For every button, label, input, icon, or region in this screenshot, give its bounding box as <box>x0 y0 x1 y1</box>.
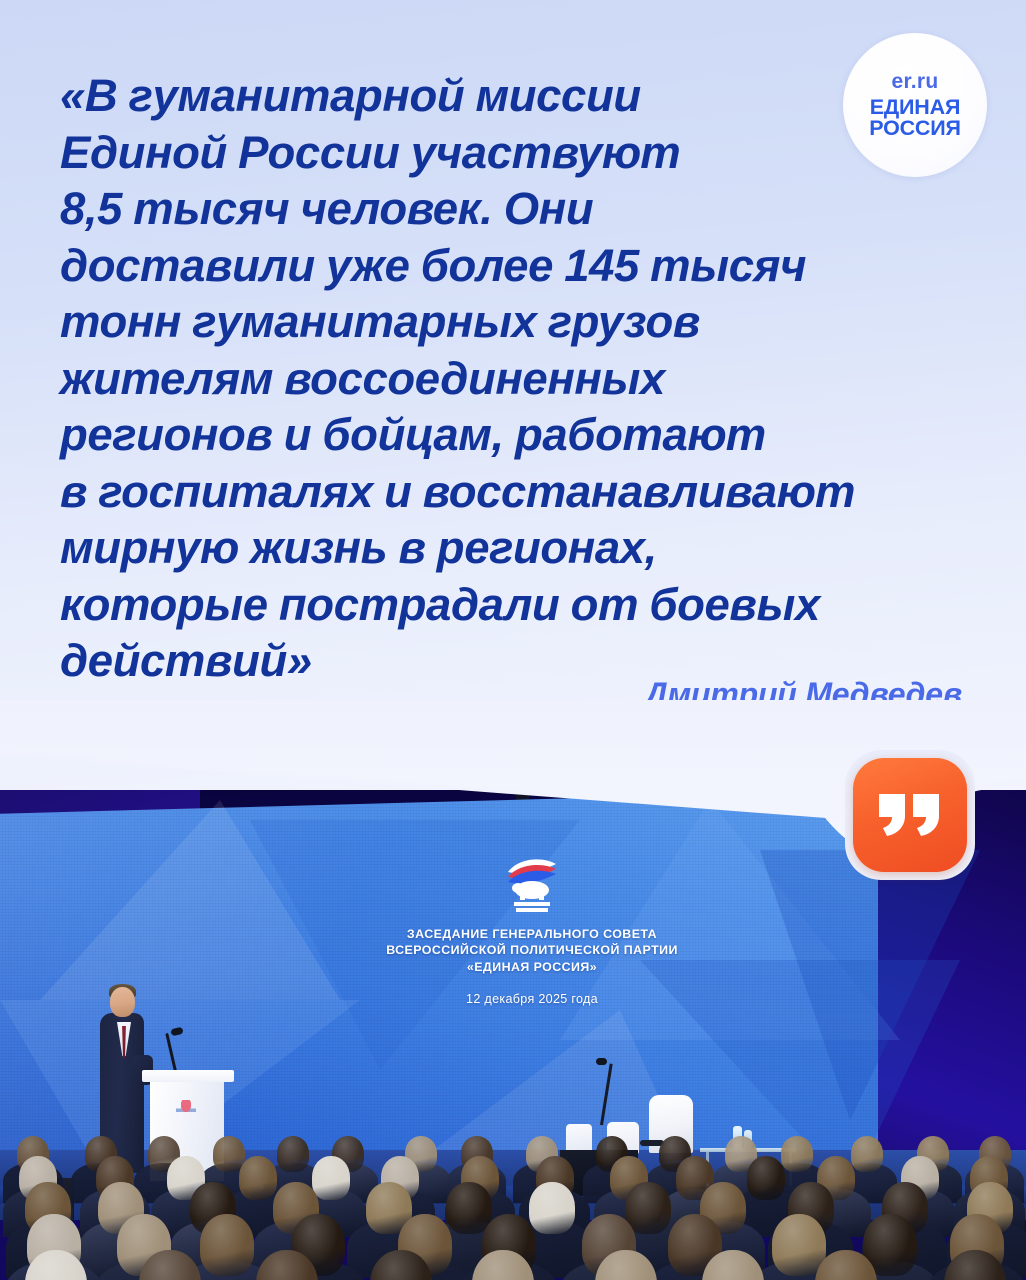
er-ru-party-name: ЕДИНАЯ РОССИЯ <box>869 97 961 139</box>
audience <box>0 1140 1026 1280</box>
audience-member-head <box>200 1214 254 1276</box>
audience-member-head <box>312 1156 350 1200</box>
audience-member-head <box>239 1156 277 1200</box>
audience-member-head <box>851 1136 883 1172</box>
united-russia-bear-emblem <box>498 852 566 914</box>
speaker-head <box>110 987 135 1017</box>
er-ru-logo-badge[interactable]: er.ru ЕДИНАЯ РОССИЯ <box>843 33 987 177</box>
audience-member-head <box>781 1136 813 1172</box>
audience-member-head <box>772 1214 826 1276</box>
quote-mark-badge <box>853 758 967 872</box>
quotation-marks-icon <box>875 790 945 840</box>
er-ru-url: er.ru <box>891 71 938 92</box>
quote-card: ЗАСЕДАНИЕ ГЕНЕРАЛЬНОГО СОВЕТА ВСЕРОССИЙС… <box>0 0 1026 1280</box>
screen-title: ЗАСЕДАНИЕ ГЕНЕРАЛЬНОГО СОВЕТА ВСЕРОССИЙС… <box>352 926 712 975</box>
podium-party-logo <box>176 1100 196 1119</box>
screen-date: 12 декабря 2025 года <box>352 992 712 1006</box>
floor-microphone <box>596 1058 607 1065</box>
quote-author: Дмитрий Медведев <box>645 676 962 713</box>
audience-member-head <box>529 1182 575 1234</box>
audience-member-head <box>277 1136 309 1172</box>
podium-top <box>142 1070 234 1082</box>
audience-member-head <box>446 1182 492 1234</box>
quote-text: «В гуманитарной миссии Единой России уча… <box>60 68 900 690</box>
screen-content: ЗАСЕДАНИЕ ГЕНЕРАЛЬНОГО СОВЕТА ВСЕРОССИЙС… <box>352 852 712 1006</box>
audience-member-head <box>747 1156 785 1200</box>
